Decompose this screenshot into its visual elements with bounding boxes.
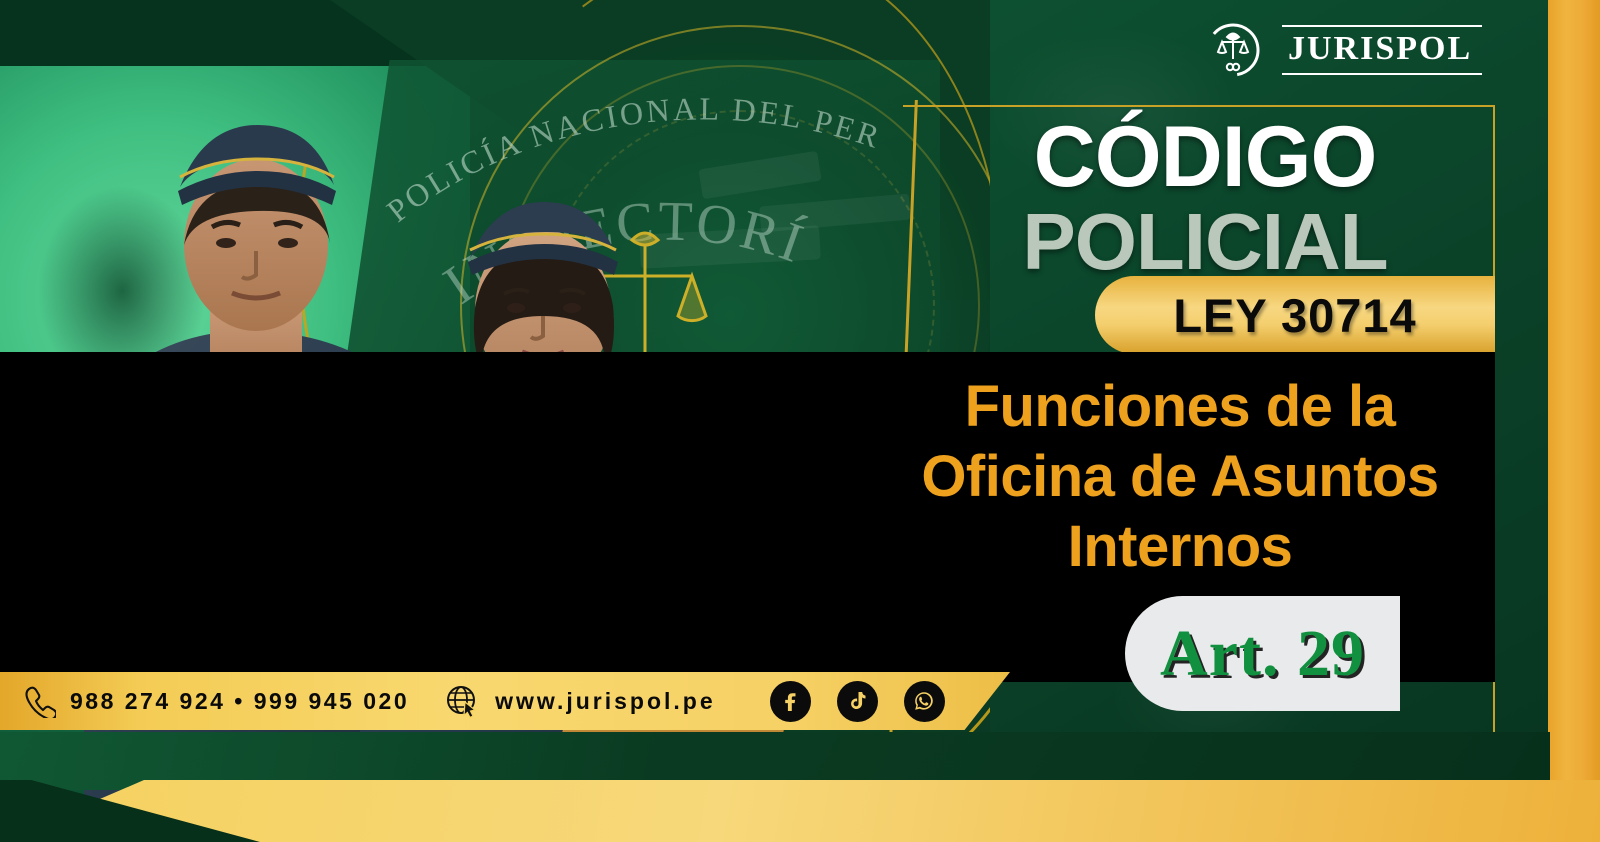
brand-wordmark: JURISPOL	[1282, 18, 1482, 82]
footer-phone-numbers: 988 274 924 • 999 945 020	[70, 688, 409, 715]
headline-codigo: CÓDIGO	[935, 118, 1475, 197]
law-number-label: LEY 30714	[1173, 288, 1416, 343]
poster-canvas: POLICÍA NACIONAL DEL PERÚ INSPECTORÍA	[0, 0, 1600, 842]
logo-rule-bottom	[1282, 73, 1482, 75]
jurisprudencia-policial-emblem-icon: JURISPRUDENCIA POLICIAL	[1202, 19, 1264, 81]
brand-logo[interactable]: JURISPRUDENCIA POLICIAL JURISPOL	[1202, 18, 1482, 82]
right-gold-edge-strip	[1548, 0, 1600, 842]
whatsapp-button[interactable]	[904, 681, 945, 722]
phone-icon	[22, 684, 56, 718]
brand-name: JURISPOL	[1282, 27, 1482, 73]
footer-website-url: www.jurispol.pe	[495, 688, 716, 715]
footer-phone-group[interactable]: 988 274 924 • 999 945 020	[22, 684, 409, 718]
footer-website-group[interactable]: www.jurispol.pe	[445, 684, 716, 718]
facebook-button[interactable]	[770, 681, 811, 722]
globe-cursor-icon	[445, 684, 479, 718]
article-badge: Art. 29	[1125, 596, 1400, 711]
whatsapp-icon	[911, 688, 937, 714]
article-badge-label: Art. 29	[1160, 616, 1365, 692]
main-title: Funciones de la Oficina de Asuntos Inter…	[880, 372, 1480, 583]
bottom-gold-band	[0, 780, 1600, 842]
headline-policial: POLICIAL	[935, 205, 1475, 279]
law-number-pill: LEY 30714	[1095, 276, 1495, 354]
footer-social-links	[770, 681, 945, 722]
facebook-icon	[777, 688, 803, 714]
tiktok-button[interactable]	[837, 681, 878, 722]
tiktok-icon	[844, 688, 870, 714]
footer-contact-bar: 988 274 924 • 999 945 020 www.jurispol.p…	[0, 672, 1010, 730]
